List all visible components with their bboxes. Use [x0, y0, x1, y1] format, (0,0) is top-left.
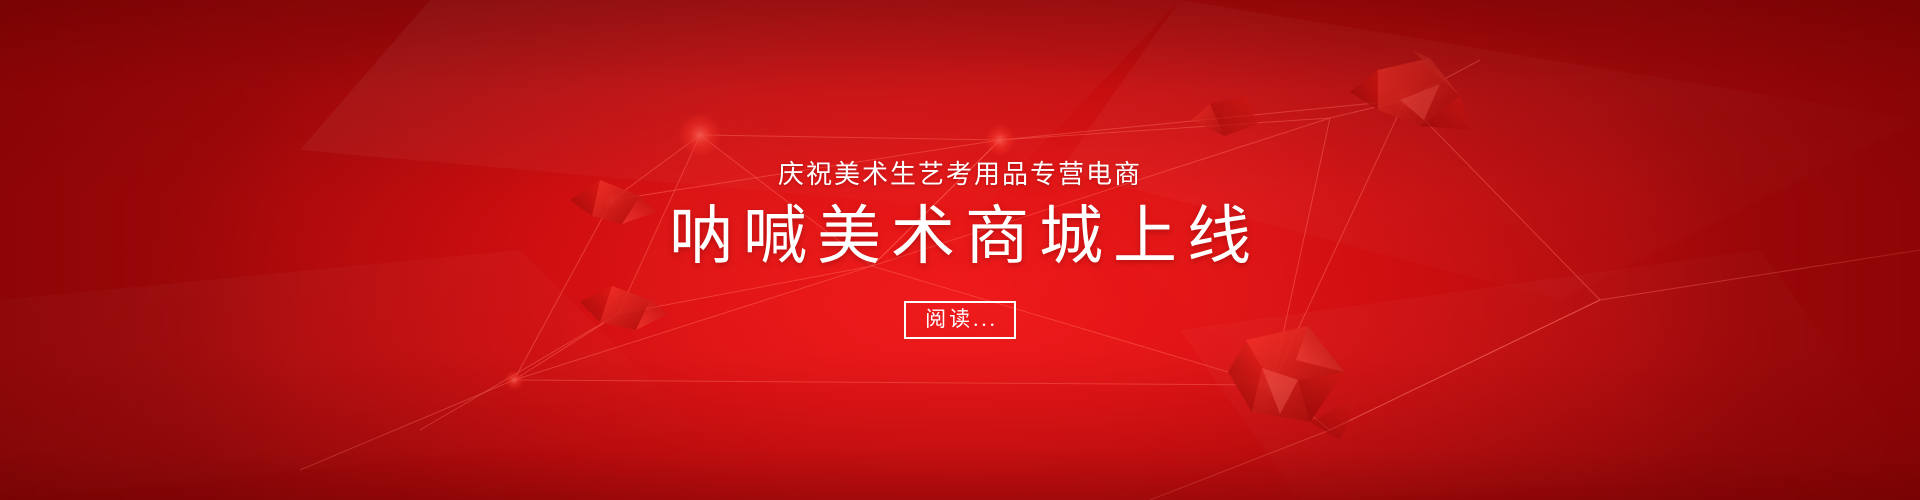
banner-headline: 呐喊美术商城上线 — [659, 203, 1261, 270]
banner-content: 庆祝美术生艺考用品专营电商 呐喊美术商城上线 阅读... — [0, 0, 1920, 500]
read-more-button[interactable]: 阅读... — [904, 301, 1016, 339]
banner-subtitle: 庆祝美术生艺考用品专营电商 — [778, 161, 1142, 187]
promo-banner: 庆祝美术生艺考用品专营电商 呐喊美术商城上线 阅读... — [0, 0, 1920, 500]
